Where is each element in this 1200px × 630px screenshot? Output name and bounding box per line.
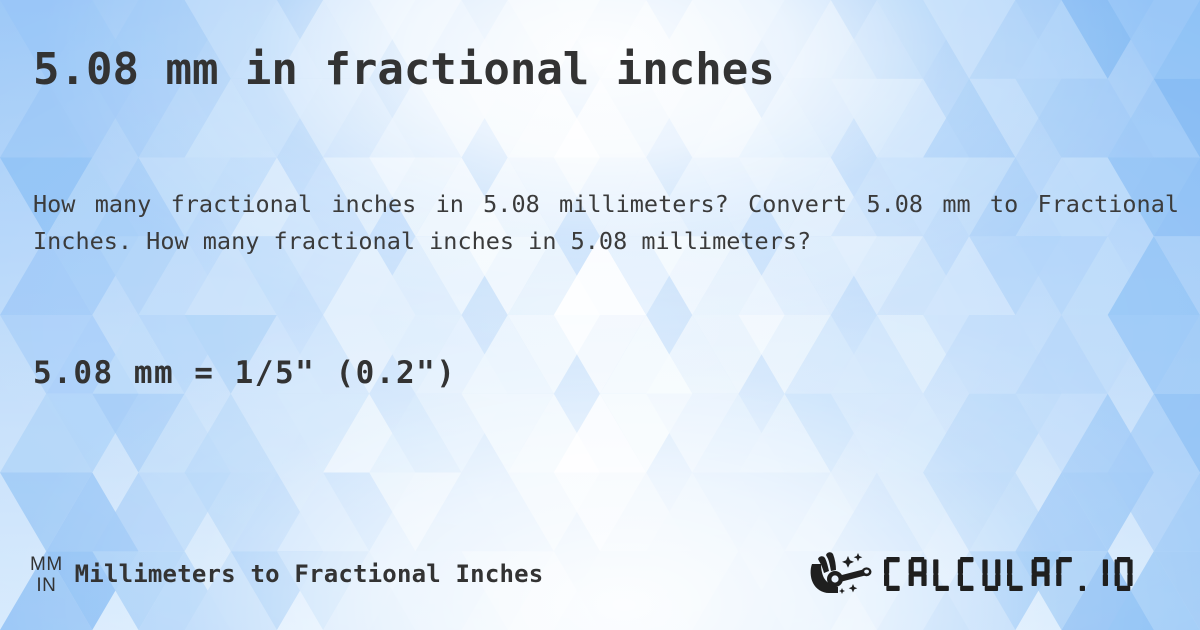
footer: MM IN Millimeters to Fractional Inches	[0, 546, 1200, 608]
footer-title: Millimeters to Fractional Inches	[75, 560, 544, 588]
mm-in-logo-bottom: IN	[36, 576, 56, 595]
page-title: 5.08 mm in fractional inches	[33, 44, 1173, 96]
page-root: 5.08 mm in fractional inches How many fr…	[0, 0, 1200, 630]
mm-in-logo: MM IN	[30, 553, 63, 595]
magic-wand-hand-icon	[808, 550, 878, 598]
footer-left-group: MM IN Millimeters to Fractional Inches	[30, 546, 543, 602]
intro-paragraph: How many fractional inches in 5.08 milli…	[33, 186, 1179, 260]
brand-logo[interactable]: CALCULAT.IO	[808, 548, 1178, 600]
mm-in-logo-top: MM	[30, 555, 63, 574]
content-area: 5.08 mm in fractional inches How many fr…	[0, 0, 1200, 630]
brand-wordmark	[882, 552, 1178, 596]
conversion-result: 5.08 mm = 1/5" (0.2")	[33, 352, 456, 394]
